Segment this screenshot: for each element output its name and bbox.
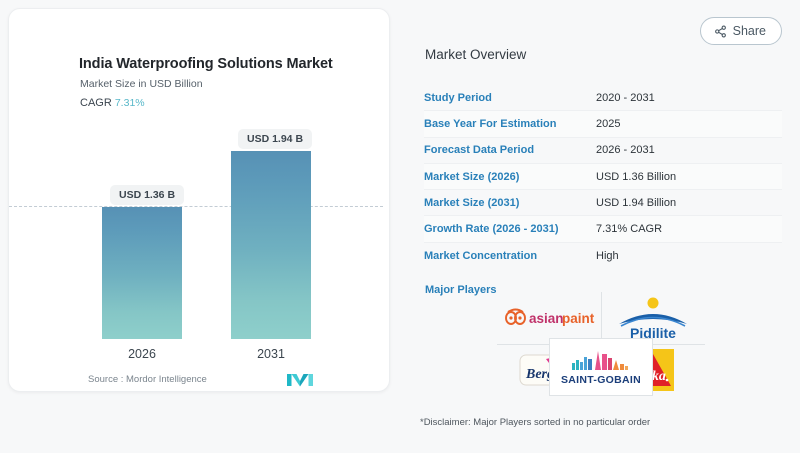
- bar-value-label-2026: USD 1.36 B: [110, 185, 184, 205]
- market-overview-table: Study Period 2020 - 2031 Base Year For E…: [424, 85, 782, 269]
- pidilite-logo-icon: Pidilite: [613, 296, 693, 340]
- row-key: Study Period: [424, 92, 596, 104]
- svg-text:paints: paints: [562, 311, 595, 326]
- row-key: Growth Rate (2026 - 2031): [424, 223, 596, 235]
- table-row: Market Size (2026) USD 1.36 Billion: [424, 164, 782, 190]
- major-players-logo-grid: asian paints Pidilite Berger: [497, 292, 705, 396]
- x-axis-label-2031: 2031: [231, 347, 311, 361]
- table-row: Market Concentration High: [424, 243, 782, 269]
- row-value: 2025: [596, 118, 620, 130]
- row-key: Market Concentration: [424, 250, 596, 262]
- source-text: Source : Mordor Intelligence: [88, 374, 207, 385]
- table-row: Forecast Data Period 2026 - 2031: [424, 138, 782, 164]
- row-value: 2026 - 2031: [596, 144, 655, 156]
- bar-chart-plot: USD 1.36 B USD 1.94 B 2026 2031: [9, 9, 391, 393]
- table-row: Market Size (2031) USD 1.94 Billion: [424, 190, 782, 216]
- table-row: Study Period 2020 - 2031: [424, 85, 782, 111]
- mordor-intelligence-logo: [287, 372, 313, 388]
- row-key: Forecast Data Period: [424, 144, 596, 156]
- market-overview-title: Market Overview: [425, 47, 526, 62]
- row-key: Base Year For Estimation: [424, 118, 596, 130]
- asianpaints-logo-icon: asian paints: [503, 307, 595, 329]
- row-value: USD 1.36 Billion: [596, 171, 676, 183]
- disclaimer-text: *Disclaimer: Major Players sorted in no …: [420, 417, 650, 428]
- row-value: USD 1.94 Billion: [596, 197, 676, 209]
- logo-asianpaints: asian paints: [497, 292, 601, 344]
- logo-pidilite: Pidilite: [601, 292, 705, 344]
- row-key: Market Size (2031): [424, 197, 596, 209]
- share-button[interactable]: Share: [700, 17, 782, 45]
- major-players-label: Major Players: [425, 284, 497, 296]
- saint-gobain-logo-icon: SAINT-GOBAIN: [558, 346, 644, 388]
- x-axis-label-2026: 2026: [102, 347, 182, 361]
- reference-line: [9, 206, 383, 207]
- row-value: 2020 - 2031: [596, 92, 655, 104]
- logo-saint-gobain: SAINT-GOBAIN: [549, 338, 653, 396]
- chart-card: India Waterproofing Solutions Market Mar…: [8, 8, 390, 392]
- row-key: Market Size (2026): [424, 171, 596, 183]
- page-root: India Waterproofing Solutions Market Mar…: [0, 0, 800, 453]
- row-value: 7.31% CAGR: [596, 223, 662, 235]
- share-nodes-icon: [714, 25, 727, 38]
- share-button-label: Share: [733, 24, 766, 38]
- bar-2031[interactable]: [231, 151, 311, 339]
- row-value: High: [596, 250, 619, 262]
- svg-text:SAINT-GOBAIN: SAINT-GOBAIN: [561, 374, 641, 386]
- table-row: Growth Rate (2026 - 2031) 7.31% CAGR: [424, 216, 782, 242]
- svg-text:asian: asian: [529, 311, 564, 326]
- bar-value-label-2031: USD 1.94 B: [238, 129, 312, 149]
- bar-2026[interactable]: [102, 207, 182, 339]
- table-row: Base Year For Estimation 2025: [424, 111, 782, 137]
